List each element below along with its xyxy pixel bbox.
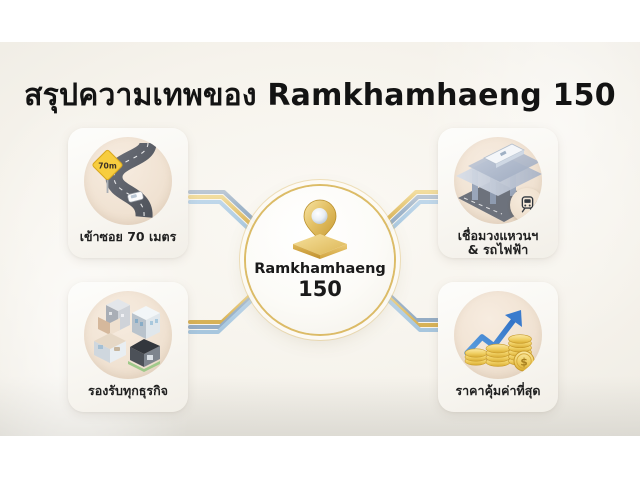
- winding-road-icon: 70m: [84, 137, 172, 225]
- isometric-buildings-icon: [84, 291, 172, 379]
- infographic-canvas: สรุปความเทพของ Ramkhamhaeng 150: [0, 0, 640, 480]
- currency-symbol: $: [520, 356, 527, 368]
- gold-location-pin-on-pedestal-icon: [287, 198, 353, 260]
- coin-stack-medium: [486, 344, 510, 366]
- top-white-band: [0, 0, 640, 42]
- center-label: Ramkhamhaeng: [254, 262, 386, 277]
- apartment-building: [132, 306, 160, 339]
- svg-text:70m: 70m: [98, 161, 117, 170]
- bottom-white-band: [0, 436, 640, 480]
- card-bottom-left[interactable]: รองรับทุกธุรกิจ: [68, 282, 188, 412]
- train-icon: [510, 188, 542, 222]
- card-bottom-left-label: รองรับทุกธุรกิจ: [88, 384, 168, 399]
- center-number: 150: [298, 278, 342, 301]
- coin-stacks-growth-arrow-icon: $: [454, 291, 542, 379]
- card-bottom-right[interactable]: $ ราคาคุ้มค่าที่สุด: [438, 282, 558, 412]
- elevated-expressway-skytrain-icon: [454, 137, 542, 224]
- page-title: สรุปความเทพของ Ramkhamhaeng 150: [0, 72, 640, 119]
- card-bottom-right-label: ราคาคุ้มค่าที่สุด: [455, 384, 540, 399]
- center-node[interactable]: Ramkhamhaeng 150: [246, 186, 394, 334]
- card-top-left[interactable]: 70m เข้าซอย 70 เมตร: [68, 128, 188, 258]
- card-top-right-label: เชื่อมวงแหวนฯ & รถไฟฟ้า: [458, 229, 539, 259]
- interior-room: [94, 333, 126, 363]
- card-top-right[interactable]: เชื่อมวงแหวนฯ & รถไฟฟ้า: [438, 128, 558, 258]
- office-building: [98, 299, 130, 335]
- dollar-coin: $: [514, 351, 534, 371]
- modern-house: [128, 339, 160, 372]
- card-top-left-label: เข้าซอย 70 เมตร: [80, 230, 177, 245]
- coin-stack-small: [465, 349, 487, 365]
